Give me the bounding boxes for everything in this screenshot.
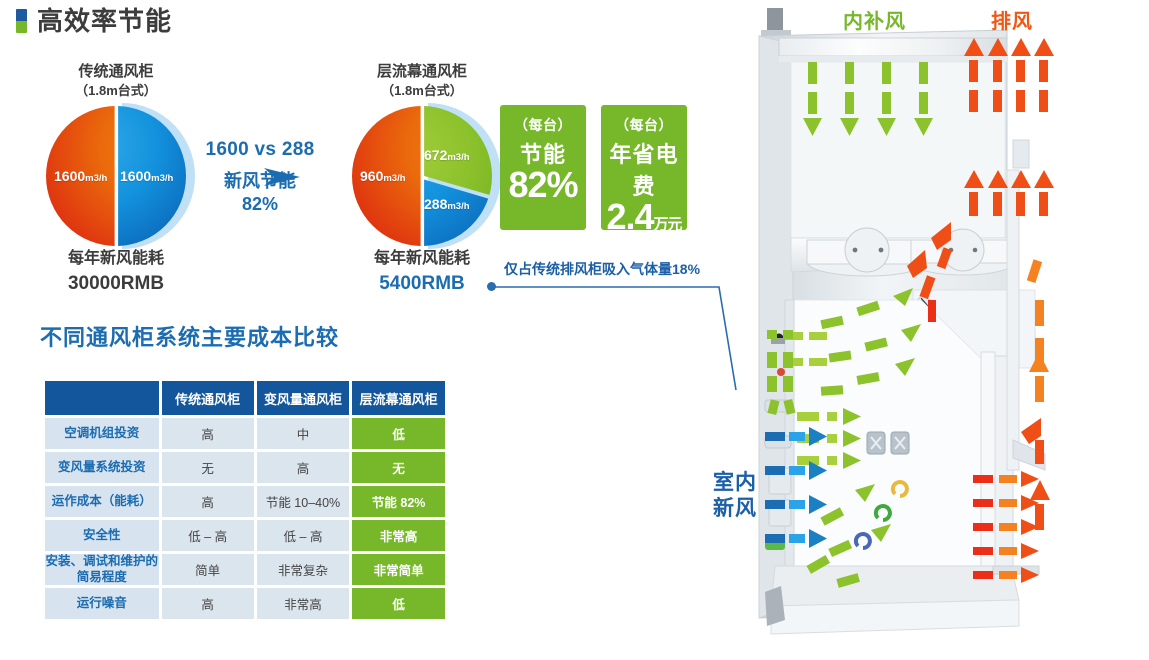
badge-2-value: 2.4万元 xyxy=(601,199,687,235)
right-chart-spec: （1.8m台式） xyxy=(334,82,510,100)
badge-2-mid: 年省电费 xyxy=(601,137,687,201)
table-cell-highlight: 低 xyxy=(352,588,445,619)
left-footer-label: 每年新风能耗 xyxy=(38,248,194,270)
table-cell-highlight: 非常简单 xyxy=(352,554,445,585)
left-pie-chart: 1600m3/h 1600m3/h xyxy=(46,106,186,246)
table-cell: 高 xyxy=(257,452,350,483)
fume-hood-illustration xyxy=(745,0,1149,660)
table-row: 运作成本（能耗） 高 节能 10–40% 节能 82% xyxy=(45,486,445,517)
table-cell: 低 – 高 xyxy=(162,520,254,551)
page-title: 高效率节能 xyxy=(37,8,172,34)
table-cell: 无 xyxy=(162,452,254,483)
table-cell-highlight: 节能 82% xyxy=(352,486,445,517)
table-cell-highlight: 无 xyxy=(352,452,445,483)
table-row-head: 运行噪音 xyxy=(45,588,159,619)
badge-energy-saving: （每台） 节能 82% xyxy=(500,105,586,230)
table-cell: 节能 10–40% xyxy=(257,486,350,517)
right-footer-label: 每年新风能耗 xyxy=(334,248,510,270)
cost-comparison-table: 传统通风柜 变风量通风柜 层流幕通风柜 空调机组投资 高 中 低 变风量系统投资… xyxy=(42,378,448,622)
right-chart-caption: 层流幕通风柜 （1.8m台式） xyxy=(334,62,510,100)
left-chart-caption: 传统通风柜 （1.8m台式） xyxy=(38,62,194,100)
table-row: 安全性 低 – 高 低 – 高 非常高 xyxy=(45,520,445,551)
table-cell-highlight: 非常高 xyxy=(352,520,445,551)
table-row-head: 变风量系统投资 xyxy=(45,452,159,483)
left-pie-label-blue: 1600m3/h xyxy=(120,168,173,184)
badge-1-top: （每台） xyxy=(500,105,586,135)
table-cell: 高 xyxy=(162,588,254,619)
comparison-ratio: 1600 vs 288 xyxy=(196,139,324,161)
page-header: 高效率节能 xyxy=(16,8,172,34)
comparison-saving-value: 82% xyxy=(196,193,324,216)
table-header-row: 传统通风柜 变风量通风柜 层流幕通风柜 xyxy=(45,381,445,415)
callout-label: 仅占传统排风柜吸入气体量18% xyxy=(504,259,700,279)
badge-1-value: 82% xyxy=(500,167,586,203)
header-bullet-icon xyxy=(16,9,27,33)
label-indoor-fresh-air-line2: 新风 xyxy=(713,496,757,522)
table-header-col-1: 传统通风柜 xyxy=(162,381,254,415)
badge-2-top: （每台） xyxy=(601,105,687,135)
left-chart-spec: （1.8m台式） xyxy=(38,82,194,100)
table-header-blank xyxy=(45,381,159,415)
label-exhaust-air: 排风 xyxy=(991,5,1033,34)
right-footer-value: 5400RMB xyxy=(334,271,510,297)
infographic-root: 高效率节能 传统通风柜 （1.8m台式） 1600m3/h 1600m3/h 每… xyxy=(0,0,1149,660)
callout-dot-icon xyxy=(487,282,496,291)
table-header-col-3: 层流幕通风柜 xyxy=(352,381,445,415)
table-row: 安装、调试和维护的简易程度 简单 非常复杂 非常简单 xyxy=(45,554,445,585)
table-cell: 非常复杂 xyxy=(257,554,350,585)
table-cell: 低 – 高 xyxy=(257,520,350,551)
table-row: 运行噪音 高 非常高 低 xyxy=(45,588,445,619)
comparison-saving-label: 新风节能 xyxy=(196,170,324,193)
table-cell: 中 xyxy=(257,418,350,449)
right-chart-name: 层流幕通风柜 xyxy=(334,62,510,82)
table-cell: 非常高 xyxy=(257,588,350,619)
label-indoor-fresh-air: 室内 新风 xyxy=(713,470,757,521)
table-title: 不同通风柜系统主要成本比较 xyxy=(40,320,339,352)
comparison-middle: 1600 vs 288 新风节能 82% xyxy=(196,139,324,217)
table-cell: 高 xyxy=(162,418,254,449)
left-footer-value: 30000RMB xyxy=(38,271,194,297)
table-cell-highlight: 低 xyxy=(352,418,445,449)
right-pie-label-blue: 288m3/h xyxy=(424,196,470,212)
table-row: 空调机组投资 高 中 低 xyxy=(45,418,445,449)
left-chart-footer: 每年新风能耗 30000RMB xyxy=(38,248,194,296)
callout-leader-line xyxy=(490,275,740,395)
right-pie-chart: 960m3/h 672m3/h 288m3/h xyxy=(352,106,492,246)
label-indoor-fresh-air-line1: 室内 xyxy=(713,470,757,496)
table-cell: 高 xyxy=(162,486,254,517)
table-header-col-2: 变风量通风柜 xyxy=(257,381,350,415)
right-chart-footer: 每年新风能耗 5400RMB xyxy=(334,248,510,296)
label-supply-air: 内补风 xyxy=(843,5,906,34)
table-row-head: 安全性 xyxy=(45,520,159,551)
table-row-head: 空调机组投资 xyxy=(45,418,159,449)
table-row-head: 安装、调试和维护的简易程度 xyxy=(45,554,159,585)
table-row-head: 运作成本（能耗） xyxy=(45,486,159,517)
table-cell: 简单 xyxy=(162,554,254,585)
left-chart-name: 传统通风柜 xyxy=(38,62,194,82)
left-pie-label-orange: 1600m3/h xyxy=(54,168,107,184)
right-pie-label-orange: 960m3/h xyxy=(360,168,406,184)
badge-yearly-cost-saving: （每台） 年省电费 2.4万元 xyxy=(601,105,687,230)
table-row: 变风量系统投资 无 高 无 xyxy=(45,452,445,483)
right-pie-label-green: 672m3/h xyxy=(424,147,470,163)
